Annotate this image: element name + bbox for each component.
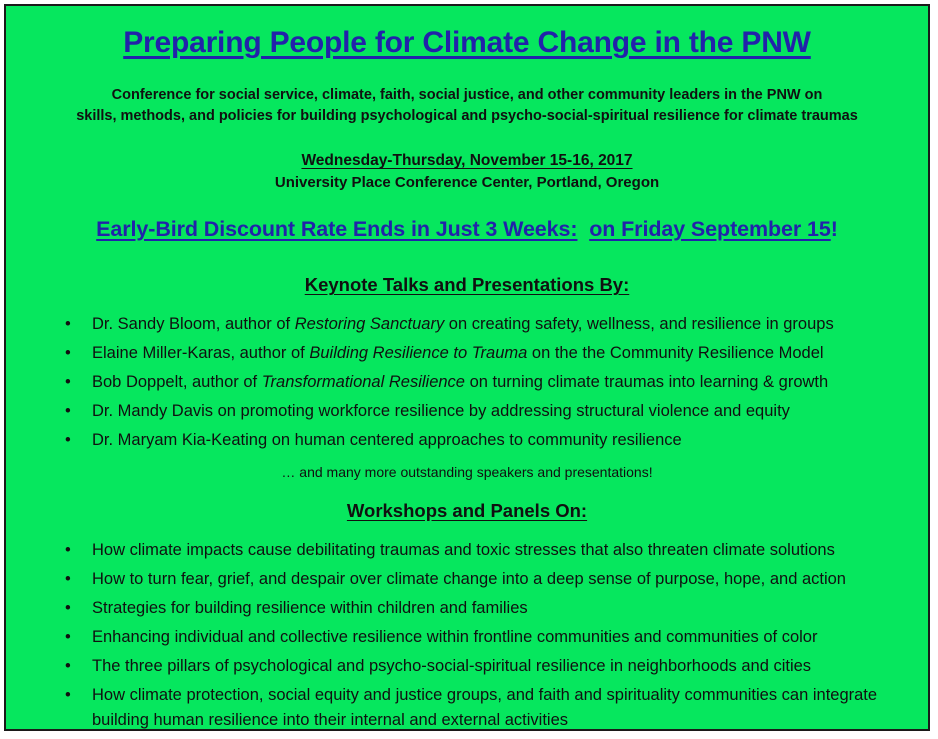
- keynote-note: … and many more outstanding speakers and…: [16, 464, 918, 480]
- bullet-icon: •: [65, 370, 71, 395]
- keynote-item-text: Elaine Miller-Karas, author of: [92, 344, 309, 362]
- early-bird-part-1: Early-Bird Discount Rate Ends in Just 3 …: [96, 217, 577, 241]
- keynote-item-text-tail: on creating safety, wellness, and resili…: [444, 315, 834, 333]
- list-item: •How climate protection, social equity a…: [16, 683, 918, 731]
- bullet-icon: •: [65, 567, 71, 592]
- workshop-item-text: How to turn fear, grief, and despair ove…: [92, 570, 846, 588]
- bullet-icon: •: [65, 596, 71, 621]
- list-item: •Enhancing individual and collective res…: [16, 625, 918, 650]
- early-bird-notice: Early-Bird Discount Rate Ends in Just 3 …: [16, 217, 918, 242]
- list-item: •Dr. Mandy Davis on promoting workforce …: [16, 399, 918, 424]
- bullet-icon: •: [65, 683, 71, 708]
- keynote-item-book-title: Building Resilience to Trauma: [309, 344, 527, 362]
- list-item: •Dr. Sandy Bloom, author of Restoring Sa…: [16, 312, 918, 337]
- workshops-section-heading: Workshops and Panels On:: [16, 500, 918, 522]
- list-item: •Elaine Miller-Karas, author of Building…: [16, 341, 918, 366]
- workshop-item-text: Enhancing individual and collective resi…: [92, 628, 817, 646]
- keynote-item-text-tail: on the the Community Resilience Model: [527, 344, 823, 362]
- keynote-item-text-tail: on turning climate traumas into learning…: [465, 373, 828, 391]
- conference-venue: University Place Conference Center, Port…: [16, 174, 918, 191]
- workshop-item-text: Strategies for building resilience withi…: [92, 599, 528, 617]
- list-item: •The three pillars of psychological and …: [16, 654, 918, 679]
- conference-date: Wednesday-Thursday, November 15-16, 2017: [16, 152, 918, 170]
- keynote-item-book-title: Transformational Resilience: [262, 373, 465, 391]
- flyer-content: Preparing People for Climate Change in t…: [6, 26, 928, 731]
- keynote-item-text: Dr. Maryam Kia-Keating on human centered…: [92, 431, 682, 449]
- bullet-icon: •: [65, 341, 71, 366]
- bullet-icon: •: [65, 399, 71, 424]
- list-item: •How to turn fear, grief, and despair ov…: [16, 567, 918, 592]
- workshop-item-text: How climate impacts cause debilitating t…: [92, 541, 835, 559]
- bullet-icon: •: [65, 312, 71, 337]
- workshops-list: •How climate impacts cause debilitating …: [16, 538, 918, 731]
- subtitle-line-2: skills, methods, and policies for buildi…: [47, 106, 887, 127]
- keynote-section-heading: Keynote Talks and Presentations By:: [16, 274, 918, 296]
- workshop-item-text: The three pillars of psychological and p…: [92, 657, 811, 675]
- bullet-icon: •: [65, 428, 71, 453]
- early-bird-part-2: on Friday September 15: [589, 217, 831, 241]
- keynote-item-text: Dr. Mandy Davis on promoting workforce r…: [92, 402, 790, 420]
- bullet-icon: •: [65, 538, 71, 563]
- subtitle-line-1: Conference for social service, climate, …: [47, 85, 887, 106]
- date-venue-block: Wednesday-Thursday, November 15-16, 2017…: [16, 152, 918, 191]
- list-item: •How climate impacts cause debilitating …: [16, 538, 918, 563]
- list-item: •Strategies for building resilience with…: [16, 596, 918, 621]
- keynote-item-text: Dr. Sandy Bloom, author of: [92, 315, 295, 333]
- bullet-icon: •: [65, 654, 71, 679]
- page-title: Preparing People for Climate Change in t…: [16, 26, 918, 59]
- conference-subtitle: Conference for social service, climate, …: [47, 85, 887, 126]
- conference-date-text: Wednesday-Thursday, November 15-16, 2017: [301, 152, 632, 169]
- bullet-icon: •: [65, 625, 71, 650]
- keynote-item-book-title: Restoring Sanctuary: [295, 315, 445, 333]
- keynote-list: •Dr. Sandy Bloom, author of Restoring Sa…: [16, 312, 918, 453]
- workshop-item-text: How climate protection, social equity an…: [92, 686, 877, 729]
- list-item: •Dr. Maryam Kia-Keating on human centere…: [16, 428, 918, 453]
- early-bird-exclamation: !: [831, 217, 838, 241]
- list-item: •Bob Doppelt, author of Transformational…: [16, 370, 918, 395]
- conference-flyer: Preparing People for Climate Change in t…: [4, 4, 930, 731]
- keynote-item-text: Bob Doppelt, author of: [92, 373, 262, 391]
